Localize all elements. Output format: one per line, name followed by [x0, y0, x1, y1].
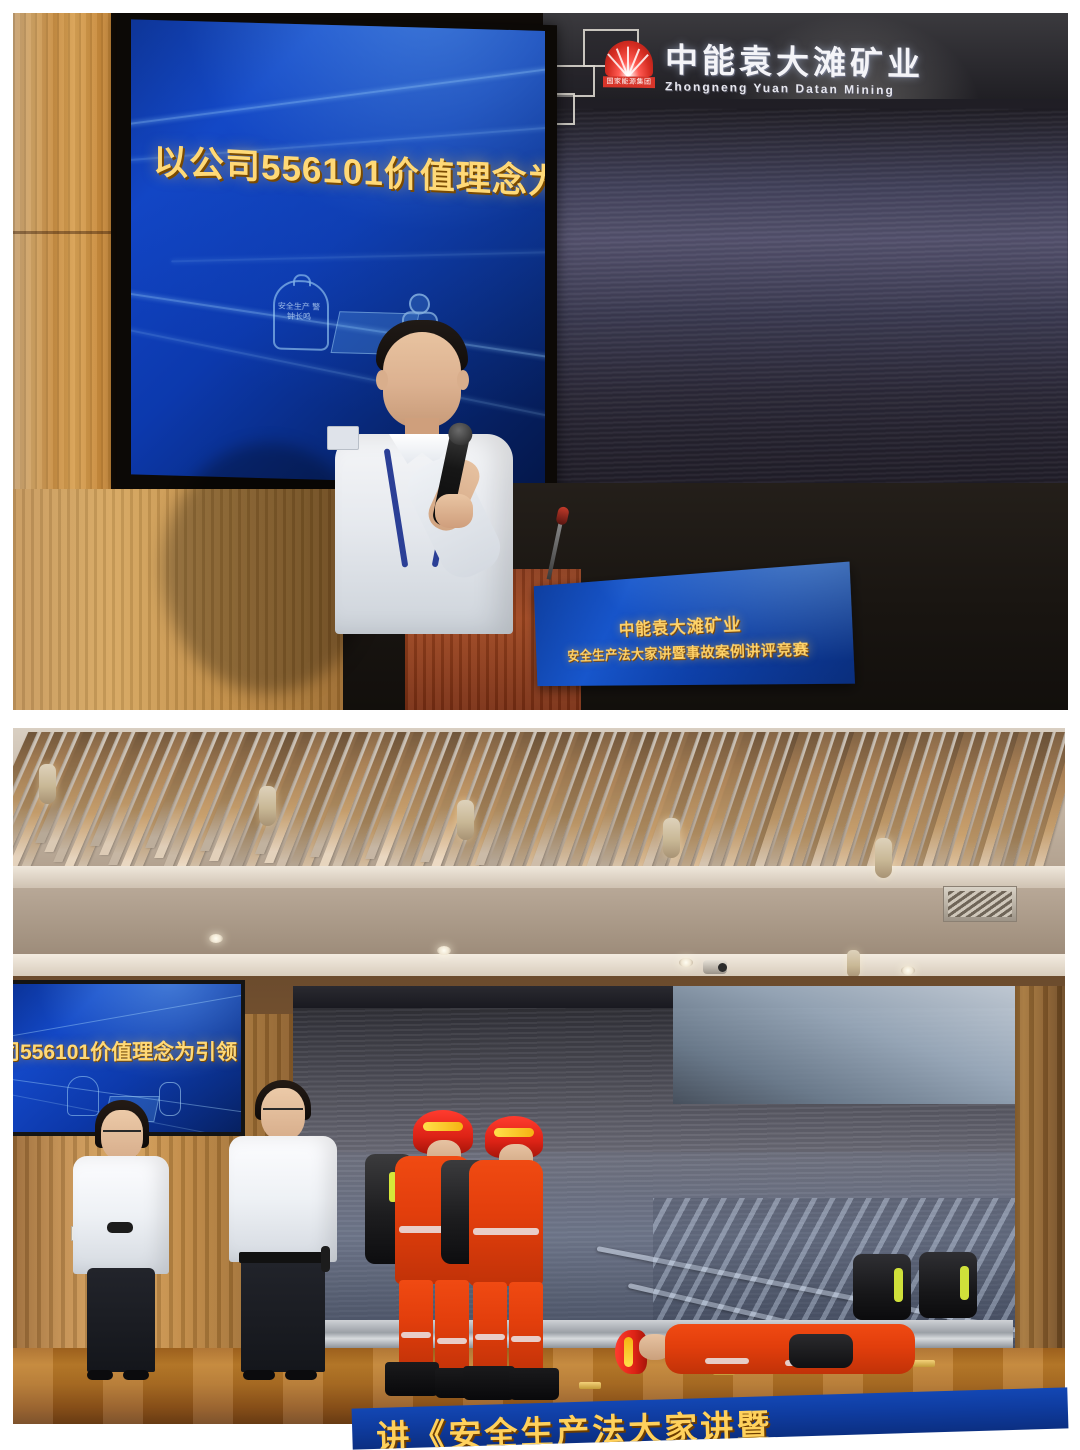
- suit-reflective-strip: [401, 1332, 431, 1338]
- floor-marker: [579, 1382, 601, 1389]
- handheld-microphone: [107, 1222, 133, 1233]
- secondary-slide-title: 司556101价值理念为引领: [13, 1036, 237, 1066]
- company-name-cn: 中能袁大滩矿业: [665, 33, 924, 86]
- pendant-light: [875, 838, 892, 878]
- wooden-ceiling-slats: [13, 732, 1065, 882]
- speaker-person: [313, 308, 533, 710]
- eyeglasses-icon: [263, 1108, 303, 1119]
- presenter-shirt: [73, 1156, 169, 1274]
- company-brandbar: 国家能源集团 中能袁大滩矿业 Zhongneng Yuan Datan Mini…: [603, 32, 924, 98]
- ceiling-spotlight: [679, 958, 693, 967]
- speaker-id-badge: [327, 426, 359, 450]
- air-pack-on-floor: [919, 1252, 977, 1318]
- pendant-light: [457, 800, 474, 840]
- rescue-boot: [385, 1362, 439, 1396]
- photo-rescue-demonstration: 司556101价值理念为引领: [13, 728, 1065, 1424]
- pendant-light: [847, 950, 860, 978]
- casualty-harness: [789, 1334, 853, 1368]
- suit-reflective-strip: [473, 1228, 539, 1235]
- rescue-suit-torso: [469, 1160, 543, 1286]
- ceiling-spotlight: [209, 934, 223, 943]
- simulated-casualty: [609, 1314, 939, 1386]
- presenter-man: [225, 1080, 343, 1392]
- eyeglasses-icon: [103, 1130, 141, 1141]
- ceiling-spotlight: [901, 966, 915, 975]
- company-logo-icon: 国家能源集团: [603, 36, 655, 89]
- suit-reflective-strip: [705, 1358, 749, 1364]
- ceiling-camera-icon: [703, 960, 727, 974]
- rescue-worker-front: [441, 1116, 561, 1404]
- rescue-suit-leg: [399, 1280, 433, 1370]
- rescue-suit-leg: [509, 1282, 543, 1374]
- handheld-microphone: [321, 1246, 330, 1272]
- ceiling-spotlight: [437, 946, 451, 955]
- presenter-shoe: [243, 1370, 275, 1380]
- led-scene-skyline: [673, 986, 1015, 1104]
- ceiling-beam-upper: [13, 866, 1065, 888]
- speaker-head: [383, 332, 461, 428]
- presenter-trousers: [241, 1256, 325, 1372]
- presenter-woman: [65, 1100, 175, 1388]
- pack-reflective-strip: [894, 1268, 903, 1302]
- presenter-trousers: [87, 1268, 155, 1372]
- event-banner-text: 讲《安全生产法大家讲暨: [376, 1399, 773, 1449]
- rescue-boot: [463, 1366, 515, 1400]
- logo-tagline: 国家能源集团: [603, 76, 655, 88]
- pendant-light: [663, 818, 680, 858]
- rescue-suit-leg: [473, 1282, 507, 1374]
- pack-reflective-strip: [960, 1266, 969, 1300]
- pendant-light: [259, 786, 276, 826]
- rescue-boot: [509, 1368, 559, 1400]
- speaker-ear: [376, 370, 388, 390]
- presenter-shoe: [123, 1370, 149, 1380]
- air-vent-grille: [943, 886, 1017, 922]
- led-wall-scene-image: [543, 109, 1068, 539]
- photo-collage-page: 国家能源集团 中能袁大滩矿业 Zhongneng Yuan Datan Mini…: [0, 0, 1080, 1439]
- speaker-hand: [435, 494, 473, 528]
- presenter-shirt: [229, 1136, 337, 1262]
- pendant-light: [39, 764, 56, 804]
- air-pack-on-floor: [853, 1254, 911, 1320]
- suit-reflective-strip: [475, 1334, 505, 1340]
- speaker-ear: [457, 370, 469, 390]
- presenter-belt: [239, 1252, 327, 1263]
- presenter-shoe: [285, 1370, 317, 1380]
- presenter-shoe: [87, 1370, 113, 1380]
- photo-speaker-at-podium: 国家能源集团 中能袁大滩矿业 Zhongneng Yuan Datan Mini…: [13, 13, 1068, 710]
- suit-reflective-strip: [511, 1336, 541, 1342]
